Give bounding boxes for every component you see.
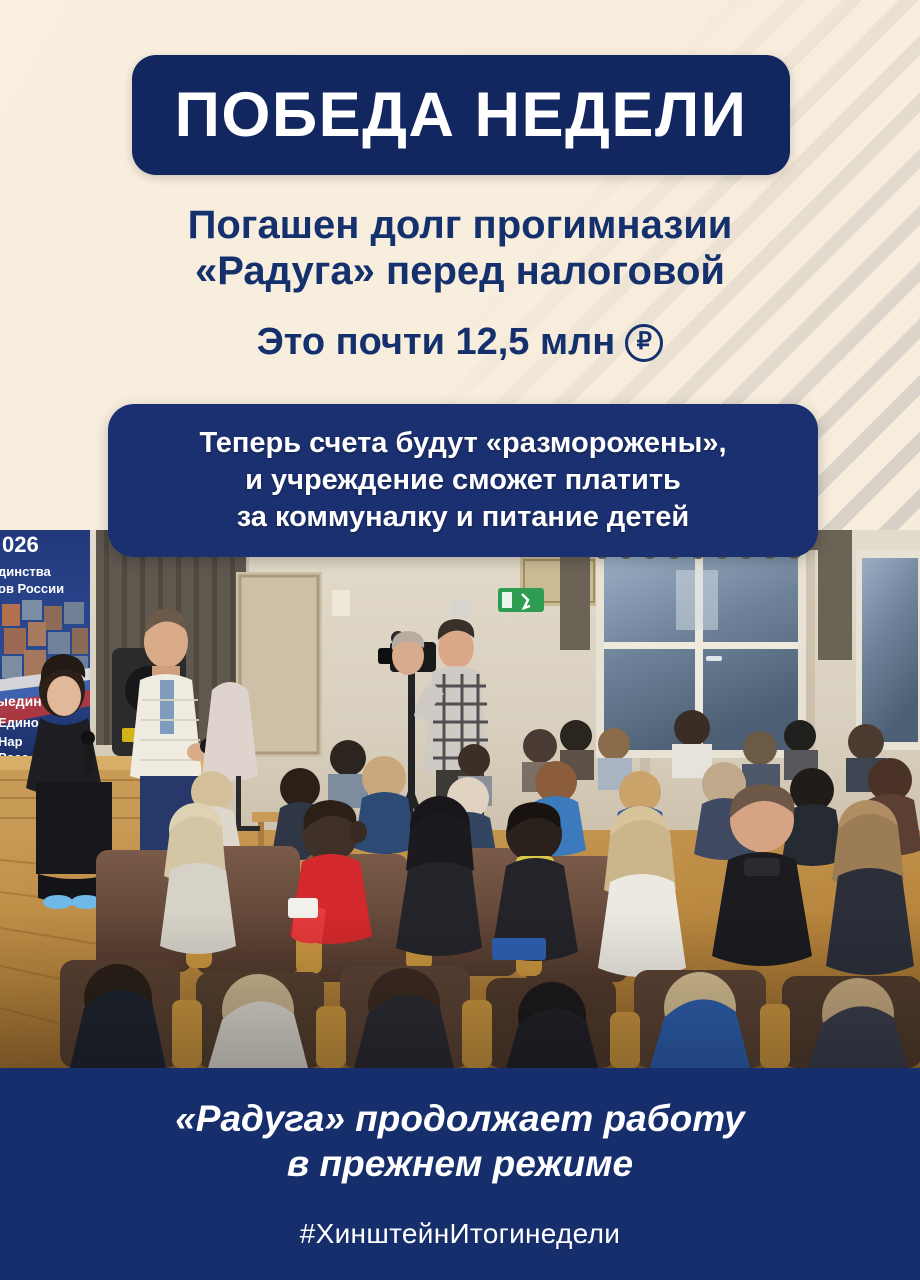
svg-text:динства: динства (0, 564, 52, 579)
amount-line: Это почти 12,5 млн ₽ (60, 322, 860, 364)
info-card-line-3: за коммуналку и питание детей (199, 499, 726, 536)
title-banner-label: ПОБЕДА НЕДЕЛИ (175, 84, 748, 147)
event-photo: 026 динства ов России ыедин (0, 530, 920, 1068)
headline: Погашен долг прогимназии «Радуга» перед … (60, 202, 860, 295)
event-photo-illustration: 026 динства ов России ыедин (0, 530, 920, 1068)
info-card: Теперь счета будут «разморожены», и учре… (108, 404, 818, 557)
headline-line-1: Погашен долг прогимназии (188, 203, 733, 247)
footer-line-1: «Радуга» продолжает работу (175, 1096, 745, 1141)
svg-text:026: 026 (2, 532, 39, 557)
poster-root: ПОБЕДА НЕДЕЛИ Погашен долг прогимназии «… (0, 0, 920, 1280)
ruble-circle-icon: ₽ (625, 324, 663, 362)
amount-text: Это почти 12,5 млн (257, 322, 615, 364)
footer-hashtag: #ХинштейнИтогинедели (300, 1218, 620, 1250)
footer-line-2: в прежнем режиме (287, 1141, 633, 1186)
info-card-text: Теперь счета будут «разморожены», и учре… (181, 425, 744, 536)
svg-text:Едино: Едино (0, 715, 39, 730)
title-banner: ПОБЕДА НЕДЕЛИ (132, 55, 790, 175)
footer-banner: «Радуга» продолжает работу в прежнем реж… (0, 1068, 920, 1280)
svg-text:ов России: ов России (0, 581, 64, 596)
svg-text:ыедин: ыедин (0, 693, 42, 709)
info-card-line-2: и учреждение сможет платить (199, 462, 726, 499)
headline-line-2: «Радуга» перед налоговой (60, 248, 860, 294)
svg-text:Нар: Нар (0, 734, 23, 749)
info-card-line-1: Теперь счета будут «разморожены», (199, 425, 726, 462)
